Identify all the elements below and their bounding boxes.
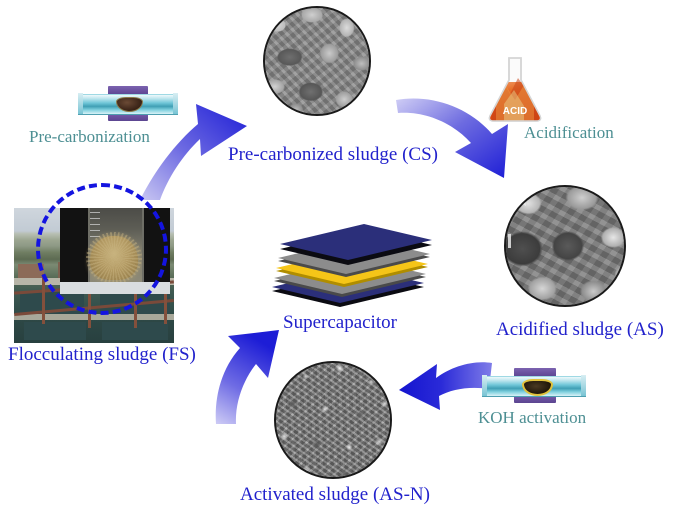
koh-activation-label: KOH activation bbox=[478, 409, 586, 426]
supercapacitor-device-stack bbox=[258, 213, 438, 313]
diagram-canvas: Flocculating sludge (FS) Pre-carbonizati… bbox=[0, 0, 700, 513]
pre-carbonization-label: Pre-carbonization bbox=[29, 128, 150, 145]
arrow-asn-to-supercapacitor bbox=[216, 330, 279, 424]
acidified-sludge-label: Acidified sludge (AS) bbox=[496, 320, 664, 339]
dashed-circle-highlight bbox=[36, 183, 168, 315]
activated-sludge-label: Activated sludge (AS-N) bbox=[240, 485, 430, 504]
flocculating-sludge-label: Flocculating sludge (FS) bbox=[8, 345, 196, 364]
pre-carbonized-sludge-sem-image bbox=[263, 6, 371, 116]
acidified-sludge-sem-image bbox=[504, 185, 626, 307]
tube-furnace-icon bbox=[78, 86, 178, 122]
tube-furnace-icon bbox=[482, 368, 586, 404]
flask-acid-text: ACID bbox=[503, 106, 527, 117]
acidification-label: Acidification bbox=[524, 124, 614, 141]
activated-sludge-sem-image bbox=[274, 361, 392, 479]
pre-carbonized-sludge-label: Pre-carbonized sludge (CS) bbox=[228, 145, 438, 164]
arrow-as-to-asn bbox=[399, 362, 492, 410]
supercapacitor-label: Supercapacitor bbox=[283, 313, 397, 332]
acid-flask-icon: ACID bbox=[484, 52, 546, 124]
